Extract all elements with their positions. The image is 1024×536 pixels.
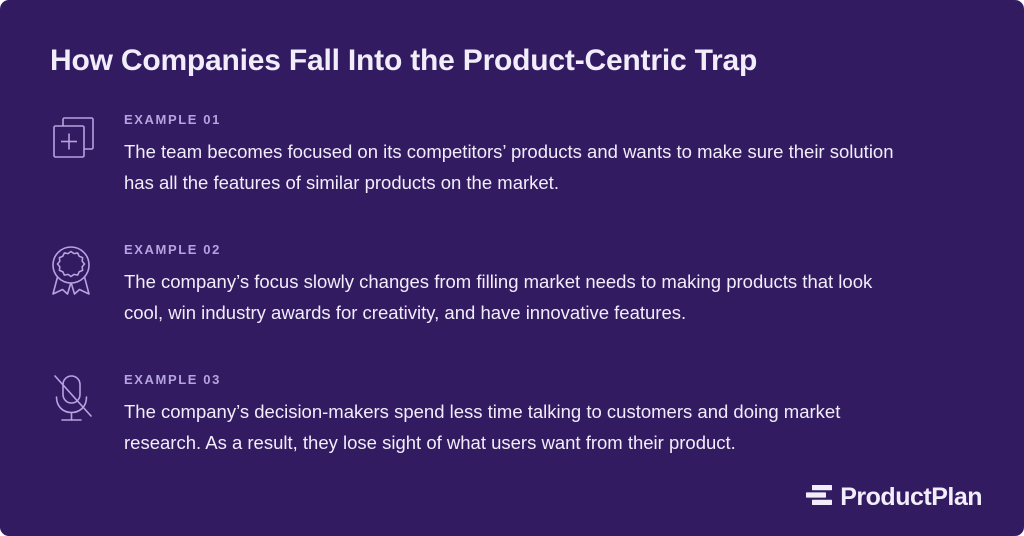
example-label: EXAMPLE 01 [124, 112, 950, 127]
example-content: EXAMPLE 03 The company’s decision-makers… [124, 370, 950, 458]
brand-name: ProductPlan [840, 485, 982, 510]
productplan-bars-logo [806, 483, 832, 512]
productplan-logo: ProductPlan [806, 483, 982, 512]
example-content: EXAMPLE 01 The team becomes focused on i… [124, 110, 950, 198]
example-text: The company’s decision-makers spend less… [124, 396, 914, 458]
example-content: EXAMPLE 02 The company’s focus slowly ch… [124, 240, 950, 328]
list-item: EXAMPLE 02 The company’s focus slowly ch… [50, 240, 950, 328]
example-text: The team becomes focused on its competit… [124, 136, 914, 198]
microphone-off-icon [50, 370, 124, 424]
list-item: EXAMPLE 03 The company’s decision-makers… [50, 370, 950, 458]
list-item: EXAMPLE 01 The team becomes focused on i… [50, 110, 950, 198]
page-title: How Companies Fall Into the Product-Cent… [50, 44, 757, 78]
example-text: The company’s focus slowly changes from … [124, 266, 914, 328]
example-label: EXAMPLE 03 [124, 372, 950, 387]
examples-list: EXAMPLE 01 The team becomes focused on i… [50, 110, 950, 500]
award-ribbon-icon [50, 240, 124, 296]
example-label: EXAMPLE 02 [124, 242, 950, 257]
infographic-card: How Companies Fall Into the Product-Cent… [0, 0, 1024, 536]
copy-plus-icon [50, 110, 124, 162]
